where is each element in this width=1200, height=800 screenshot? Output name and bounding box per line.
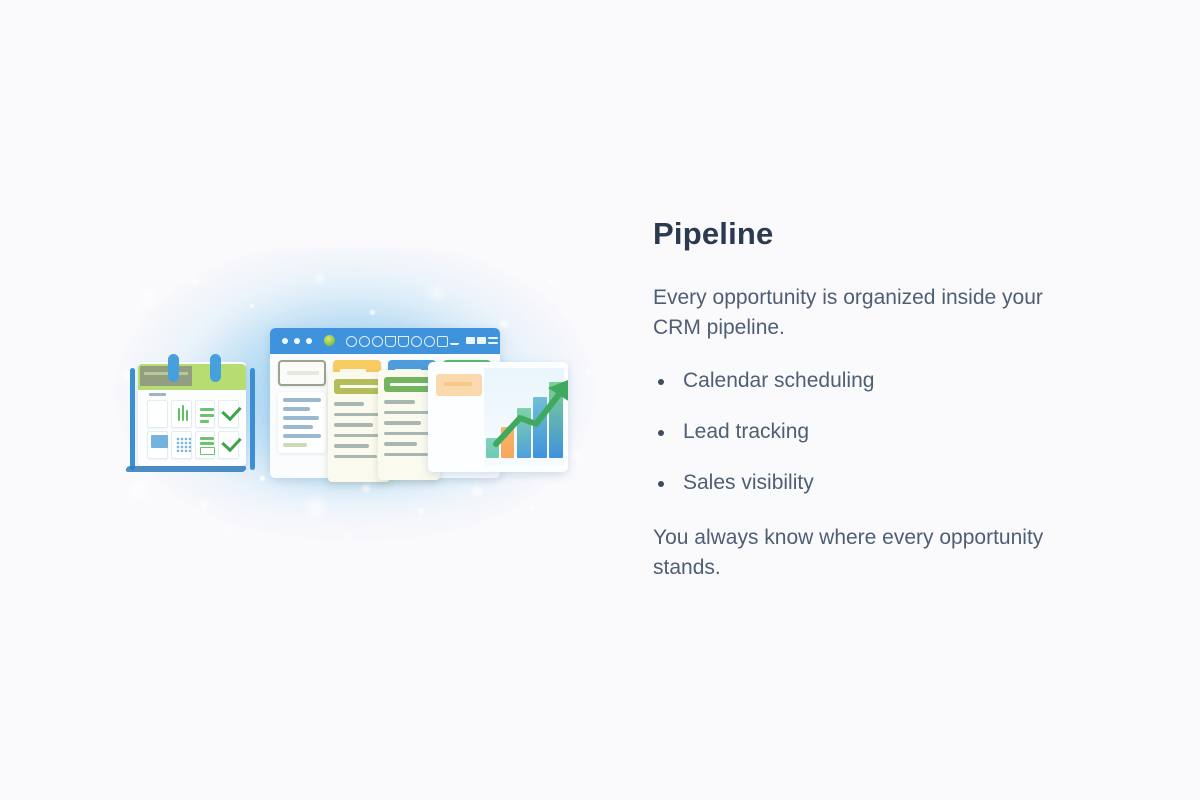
- chart-tag: [436, 374, 482, 396]
- calendar-tile-check[interactable]: [218, 400, 239, 428]
- deal-card-header: [334, 379, 384, 394]
- toolbar-circle-icon[interactable]: [359, 336, 370, 347]
- column-header[interactable]: [278, 360, 326, 386]
- calendar-tile-check[interactable]: [218, 431, 239, 459]
- calendar-stand-right: [250, 368, 255, 470]
- bokeh-particle: [140, 290, 156, 306]
- calendar-header-tab: [140, 366, 192, 386]
- toolbar-tag-icon[interactable]: [398, 336, 409, 347]
- list-item: Calendar scheduling: [653, 370, 1083, 391]
- toolbar-line-icon[interactable]: [488, 342, 498, 344]
- pipeline-column[interactable]: [278, 360, 326, 453]
- bokeh-particle: [548, 280, 553, 285]
- window-minimize-dot-icon[interactable]: [294, 338, 300, 344]
- toolbar-block-icon[interactable]: [466, 337, 475, 344]
- bokeh-particle: [570, 450, 579, 459]
- bokeh-particle: [586, 370, 591, 375]
- list-item: Lead tracking: [653, 421, 1083, 442]
- closing-paragraph: You always know where every opportunity …: [653, 523, 1083, 584]
- bokeh-particle: [370, 310, 375, 315]
- intro-paragraph: Every opportunity is organized inside yo…: [653, 283, 1083, 344]
- calendar-tile-green-lines[interactable]: [195, 400, 216, 428]
- crm-pipeline-illustration: [100, 250, 610, 570]
- deal-card-header: [384, 377, 434, 392]
- calendar-tile-blue-square[interactable]: [147, 431, 168, 459]
- calendar-tile-blank[interactable]: [147, 400, 168, 428]
- feature-list: Calendar scheduling Lead tracking Sales …: [653, 370, 1083, 493]
- toolbar-block-icon[interactable]: [477, 337, 486, 344]
- calendar-label: [149, 393, 166, 396]
- toolbar-circle-icon[interactable]: [411, 336, 422, 347]
- calendar-body: [138, 362, 246, 466]
- favicon-icon: [324, 335, 335, 346]
- illustration-bottom-fade: [100, 492, 610, 582]
- column-card[interactable]: [278, 392, 326, 453]
- calendar-foot: [125, 466, 247, 472]
- window-maximize-dot-icon[interactable]: [306, 338, 312, 344]
- calendar-board-widget[interactable]: [130, 362, 255, 470]
- growth-bar-chart[interactable]: [428, 362, 568, 472]
- calendar-tile-lines-box[interactable]: [195, 431, 216, 459]
- calendar-ring: [210, 354, 221, 382]
- list-item: Sales visibility: [653, 472, 1083, 493]
- toolbar-underline-icon[interactable]: [450, 336, 459, 345]
- toolbar-tag-icon[interactable]: [385, 336, 396, 347]
- calendar-header-line: [144, 372, 188, 375]
- bokeh-particle: [430, 286, 444, 300]
- bokeh-particle: [260, 476, 265, 481]
- calendar-stand-left: [130, 368, 135, 470]
- slide: Pipeline Every opportunity is organized …: [0, 0, 1200, 800]
- page-title: Pipeline: [653, 218, 1083, 249]
- bokeh-particle: [362, 484, 370, 492]
- chart-plot-area: [484, 368, 564, 466]
- content-panel: Pipeline Every opportunity is organized …: [653, 218, 1083, 584]
- toolbar-circle-icon[interactable]: [372, 336, 383, 347]
- bokeh-particle: [315, 274, 324, 283]
- toolbar-square-icon[interactable]: [437, 336, 448, 347]
- calendar-ring: [168, 354, 179, 382]
- toolbar-circle-icon[interactable]: [346, 336, 357, 347]
- bokeh-particle: [192, 278, 199, 285]
- toolbar-circle-icon[interactable]: [424, 336, 435, 347]
- browser-chrome-bar: [270, 328, 500, 354]
- calendar-tile-grid: [147, 400, 239, 459]
- bokeh-particle: [250, 304, 254, 308]
- window-close-dot-icon[interactable]: [282, 338, 288, 344]
- toolbar-line-icon[interactable]: [488, 337, 498, 339]
- bokeh-particle: [500, 320, 508, 328]
- calendar-tile-green-bars[interactable]: [171, 400, 192, 428]
- calendar-tile-dot-grid[interactable]: [171, 431, 192, 459]
